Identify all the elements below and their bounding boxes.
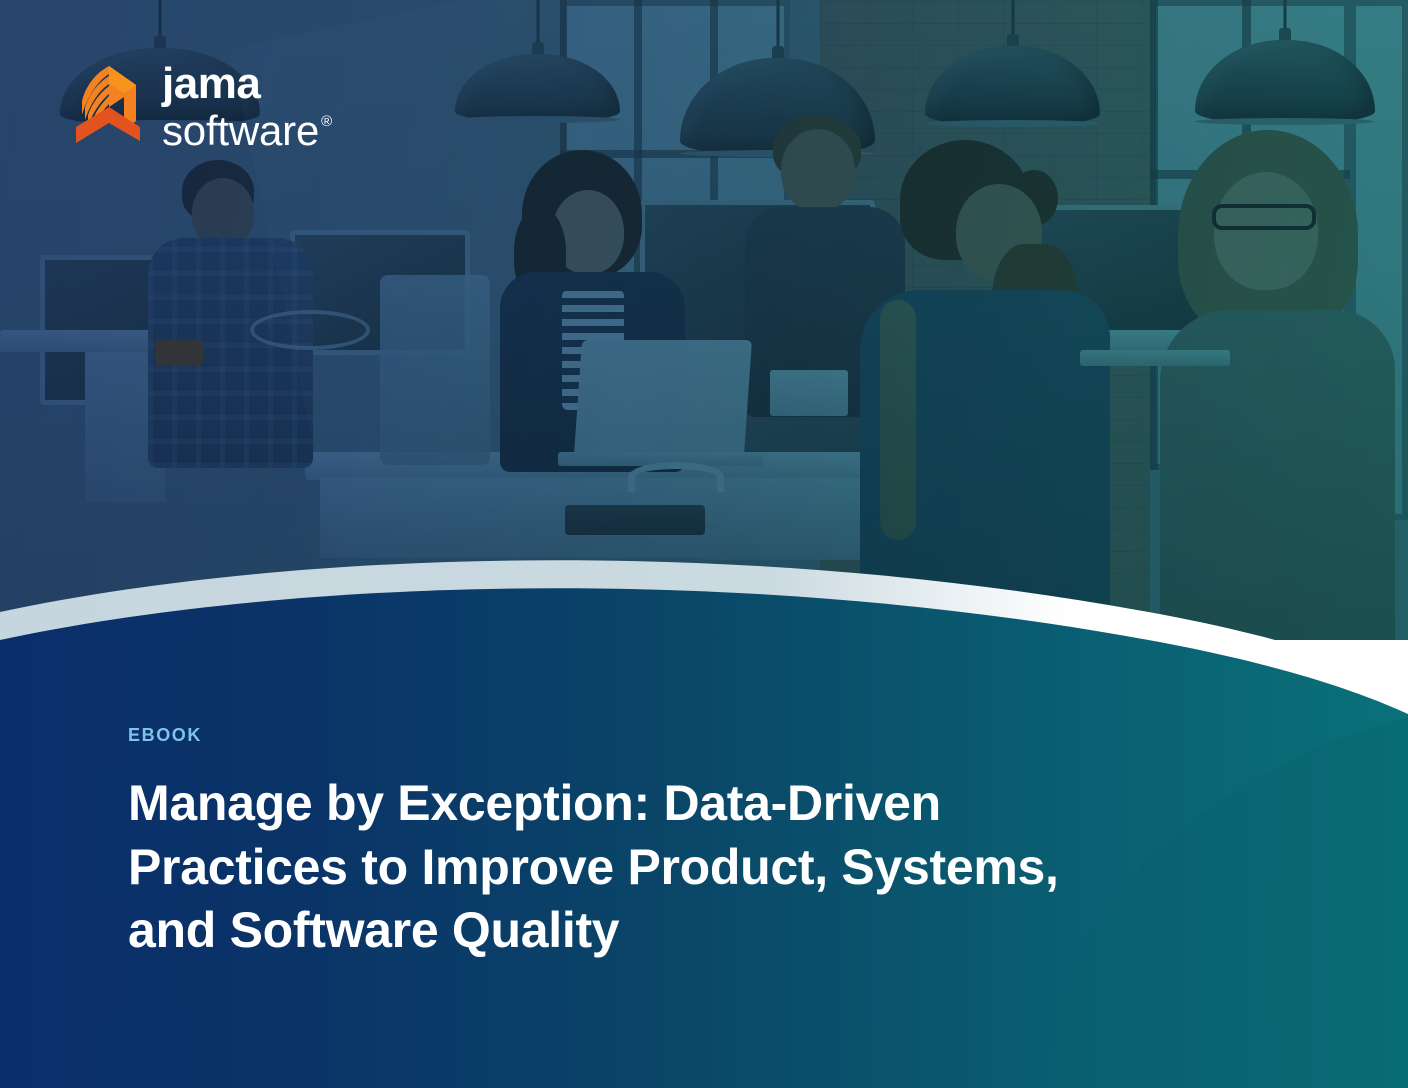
registered-trademark-icon: ®	[321, 114, 332, 129]
page-title: Manage by Exception: Data-Driven Practic…	[128, 772, 1238, 963]
title-line-3: and Software Quality	[128, 899, 1238, 963]
jama-chevron-mark	[66, 63, 144, 151]
logo-word-jama: jama	[162, 62, 332, 106]
banner-text: EBOOK Manage by Exception: Data-Driven P…	[128, 725, 1238, 963]
ebook-cover: jama software ®	[0, 0, 1408, 1088]
title-line-1: Manage by Exception: Data-Driven	[128, 772, 1238, 836]
title-line-2: Practices to Improve Product, Systems,	[128, 836, 1238, 900]
brand-logo[interactable]: jama software ®	[66, 62, 332, 152]
logo-wordmark: jama software ®	[162, 62, 332, 152]
eyebrow-label: EBOOK	[128, 725, 1238, 746]
logo-word-software: software	[162, 110, 319, 152]
